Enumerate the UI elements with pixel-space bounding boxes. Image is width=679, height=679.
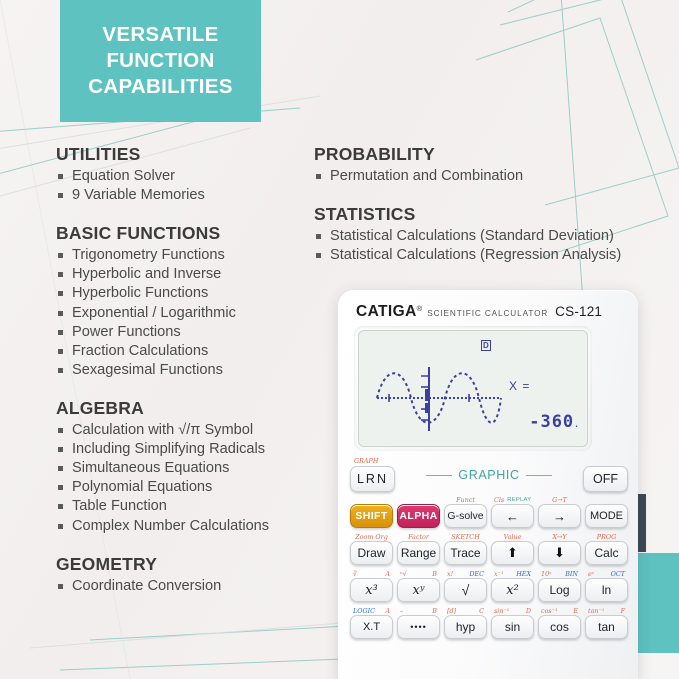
tiny-alpha: C [479, 607, 484, 615]
tiny-labels-draw-row: Zoom Org Factor SKETCH Value X→Y PROG [350, 532, 628, 541]
draw-key[interactable]: Draw [350, 541, 393, 565]
lcd-bezel: D X = [354, 326, 592, 451]
tiny-text: x! [447, 570, 453, 578]
list-item: Calculation with √/π Symbol [56, 421, 311, 440]
x-squared-label: x² [506, 583, 519, 598]
page-title: VERSATILEFUNCTIONCAPABILITIES [88, 22, 232, 100]
tiny-text: – [400, 607, 403, 615]
arrow-up-icon: ⬆ [507, 545, 518, 561]
tiny-base: DEC [469, 570, 484, 578]
tiny-text: sin⁻¹ [494, 607, 509, 615]
registered-mark: ® [417, 304, 423, 313]
section-title: BASIC FUNCTIONS [56, 223, 311, 244]
list-item: Including Simplifying Radicals [56, 440, 311, 459]
tiny-text: X→Y [552, 533, 566, 541]
off-key[interactable]: OFF [583, 466, 628, 492]
graphic-text: GRAPHIC [458, 468, 519, 482]
list-item: Statistical Calculations (Standard Devia… [314, 227, 664, 246]
sqrt-icon: √ [462, 582, 470, 598]
keypad-row-power: GRAPH LRN GRAPHIC OFF [350, 458, 628, 492]
list-item: Sexagesimal Functions [56, 361, 311, 380]
tiny-prog: PROG [585, 532, 628, 541]
tiny-value: Value [491, 532, 534, 541]
tiny-text: x⁻¹ [494, 570, 504, 578]
tiny-logic-a: LOGICA [350, 606, 393, 615]
section-title: ALGEBRA [56, 398, 311, 419]
shift-key[interactable]: SHIFT [350, 504, 393, 528]
section-title: GEOMETRY [56, 554, 311, 575]
tiny-text: Funct [456, 496, 475, 504]
brand-subtitle: SCIENTIFIC CALCULATOR [427, 309, 548, 318]
keypad-row-power-fn: x³ xʸ √ x² Log ln [350, 578, 628, 602]
feature-list: Calculation with √/π Symbol Including Si… [56, 421, 311, 536]
tiny-atan-f: tan⁻¹F [585, 606, 628, 615]
tiny-text: Factor [408, 533, 429, 541]
tiny-base: OCT [611, 570, 625, 578]
brand-name: CATIGA [356, 303, 417, 321]
x-power-y-key[interactable]: xʸ [397, 578, 440, 602]
graphic-label: GRAPHIC [395, 468, 583, 482]
model-number: CS-121 [555, 304, 602, 319]
tiny-acos-e: cos⁻¹E [538, 606, 581, 615]
lrn-key[interactable]: LRN [350, 466, 395, 492]
list-item: Table Function [56, 497, 311, 516]
x-cubed-label: x³ [365, 583, 378, 598]
sin-key[interactable]: sin [491, 615, 534, 639]
list-item: Coordinate Conversion [56, 577, 311, 596]
tiny-text: Cls [494, 496, 504, 504]
tiny-nthroot-b: ⁿ√B [397, 569, 440, 578]
tiny-text: PROG [597, 533, 616, 541]
tiny-alpha: E [573, 607, 578, 615]
tiny-base: BIN [565, 570, 578, 578]
ln-key[interactable]: ln [585, 578, 628, 602]
section-title: STATISTICS [314, 204, 664, 225]
tiny-blank [397, 495, 440, 504]
trace-key[interactable]: Trace [444, 541, 487, 565]
calc-key[interactable]: Calc [585, 541, 628, 565]
arrow-down-key[interactable]: ⬇ [538, 541, 581, 565]
x-power-y-label: xʸ [413, 583, 425, 598]
tiny-x-to-y: X→Y [538, 532, 581, 541]
feature-list: Equation Solver 9 Variable Memories [56, 167, 311, 205]
hyp-key[interactable]: hyp [444, 615, 487, 639]
lcd-screen[interactable]: D X = [358, 330, 588, 447]
list-item: Power Functions [56, 323, 311, 342]
tiny-cls-replay: ClsREPLAY [491, 495, 534, 504]
tiny-ten-pow-bin: 10ˣBIN [538, 569, 581, 578]
lcd-value: -360. [529, 412, 580, 432]
tiny-alpha: D [526, 607, 531, 615]
list-item: Equation Solver [56, 167, 311, 186]
tiny-text: eˣ [588, 570, 594, 578]
arrow-up-key[interactable]: ⬆ [491, 541, 534, 565]
feature-list: Trigonometry Functions Hyperbolic and In… [56, 246, 311, 380]
dots-key[interactable]: •••• [397, 615, 440, 639]
x-squared-key[interactable]: x² [491, 578, 534, 602]
tiny-sketch: SKETCH [444, 532, 487, 541]
tiny-zoom-org: Zoom Org [350, 532, 393, 541]
tiny-text: Value [504, 533, 522, 541]
tiny-blank [350, 495, 393, 504]
dots-icon: •••• [410, 622, 427, 632]
tiny-labels-shift-row: Funct ClsREPLAY G→T [350, 495, 628, 504]
tiny-cuberoot-a: ∛A [350, 569, 393, 578]
cos-key[interactable]: cos [538, 615, 581, 639]
tiny-factor: Factor [397, 532, 440, 541]
tiny-text: Zoom Org [355, 533, 388, 541]
mode-key[interactable]: MODE [585, 504, 628, 528]
tiny-base: HEX [516, 570, 531, 578]
log-key[interactable]: Log [538, 578, 581, 602]
list-item: Statistical Calculations (Regression Ana… [314, 246, 664, 265]
tiny-text: 10ˣ [541, 570, 551, 578]
tiny-text: G→T [552, 496, 567, 504]
list-item: Exponential / Logarithmic [56, 304, 311, 323]
tiny-text: [d] [447, 607, 456, 615]
alpha-key[interactable]: ALPHA [397, 504, 440, 528]
section-algebra: ALGEBRA Calculation with √/π Symbol Incl… [56, 398, 311, 536]
brand-row: CATIGA ® SCIENTIFIC CALCULATOR CS-121 [356, 303, 628, 319]
range-key[interactable]: Range [397, 541, 440, 565]
tiny-inverse-hex: x⁻¹HEX [491, 569, 534, 578]
tiny-funct: Funct [444, 495, 487, 504]
tiny-alpha: B [432, 607, 437, 615]
tiny-text: cos⁻¹ [541, 607, 558, 615]
section-title: UTILITIES [56, 144, 311, 165]
keypad-row-shift: SHIFT ALPHA G-solve ← → MODE [350, 504, 628, 528]
rule-left [426, 475, 452, 476]
feature-list: Statistical Calculations (Standard Devia… [314, 227, 664, 265]
section-geometry: GEOMETRY Coordinate Conversion [56, 554, 311, 596]
g-solve-key[interactable]: G-solve [444, 504, 487, 528]
rule-right [526, 475, 552, 476]
tiny-gt: G→T [538, 495, 581, 504]
arrow-left-key[interactable]: ← [491, 504, 534, 528]
section-basic-functions: BASIC FUNCTIONS Trigonometry Functions H… [56, 223, 311, 380]
arrow-right-key[interactable]: → [538, 504, 581, 528]
lcd-value-number: -360 [529, 412, 574, 432]
x-cubed-key[interactable]: x³ [350, 578, 393, 602]
list-item: Trigonometry Functions [56, 246, 311, 265]
list-item: Permutation and Combination [314, 167, 664, 186]
tiny-alpha: F [621, 607, 625, 615]
arrow-left-icon: ← [506, 509, 519, 524]
arrow-down-icon: ⬇ [554, 545, 565, 561]
arrow-right-icon: → [553, 509, 566, 524]
keypad-row-draw: Draw Range Trace ⬆ ⬇ Calc [350, 541, 628, 565]
list-item: Hyperbolic and Inverse [56, 265, 311, 284]
tiny-text: tan⁻¹ [588, 607, 604, 615]
x-t-key[interactable]: X.T [350, 615, 393, 639]
left-column: UTILITIES Equation Solver 9 Variable Mem… [56, 144, 311, 614]
tiny-alpha: B [432, 570, 437, 578]
lcd-value-suffix: . [574, 420, 580, 429]
tiny-factorial-dec: x!DEC [444, 569, 487, 578]
tan-key[interactable]: tan [585, 615, 628, 639]
keypad-row-trig: X.T •••• hyp sin cos tan [350, 615, 628, 639]
square-root-key[interactable]: √ [444, 578, 487, 602]
tiny-labels-power-row: ∛A ⁿ√B x!DEC x⁻¹HEX 10ˣBIN eˣOCT [350, 569, 628, 578]
keypad: GRAPH LRN GRAPHIC OFF Funct ClsREPLAY G→… [350, 458, 628, 679]
list-item: Complex Number Calculations [56, 517, 311, 536]
lcd-prompt: X = [509, 379, 530, 393]
section-probability: PROBABILITY Permutation and Combination [314, 144, 664, 186]
poster-page: VERSATILEFUNCTIONCAPABILITIES UTILITIES … [0, 0, 679, 679]
replay-label: REPLAY [507, 497, 531, 503]
lrn-shift-label: GRAPH [354, 457, 378, 465]
tiny-alpha: A [385, 570, 390, 578]
tiny-labels-trig-row: LOGICA –B [d]C sin⁻¹D cos⁻¹E tan⁻¹F [350, 606, 628, 615]
list-item: Polynomial Equations [56, 478, 311, 497]
feature-list: Coordinate Conversion [56, 577, 311, 596]
section-statistics: STATISTICS Statistical Calculations (Sta… [314, 204, 664, 265]
tiny-e-pow-oct: eˣOCT [585, 569, 628, 578]
tiny-text: ⁿ√ [400, 570, 407, 578]
tiny-text: ∛ [353, 570, 357, 578]
tiny-logic: LOGIC [353, 607, 375, 615]
list-item: Fraction Calculations [56, 342, 311, 361]
tiny-alpha: A [385, 607, 390, 615]
list-item: Hyperbolic Functions [56, 284, 311, 303]
feature-list: Permutation and Combination [314, 167, 664, 186]
tiny-dash-b: –B [397, 606, 440, 615]
list-item: Simultaneous Equations [56, 459, 311, 478]
tiny-d-c: [d]C [444, 606, 487, 615]
tiny-blank [585, 495, 628, 504]
tiny-asin-d: sin⁻¹D [491, 606, 534, 615]
section-title: PROBABILITY [314, 144, 664, 165]
tiny-text: SKETCH [451, 533, 480, 541]
header-banner: VERSATILEFUNCTIONCAPABILITIES [60, 0, 261, 122]
calculator-device: CATIGA ® SCIENTIFIC CALCULATOR CS-121 D [338, 290, 638, 679]
section-utilities: UTILITIES Equation Solver 9 Variable Mem… [56, 144, 311, 205]
list-item: 9 Variable Memories [56, 186, 311, 205]
right-column: PROBABILITY Permutation and Combination … [314, 144, 664, 283]
